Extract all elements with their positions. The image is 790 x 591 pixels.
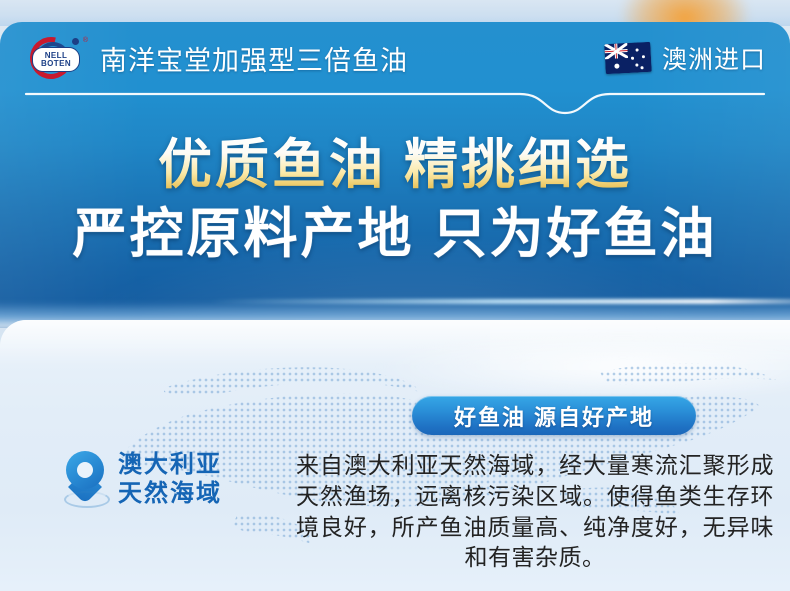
location-text: 澳大利亚 天然海域 bbox=[118, 450, 222, 509]
map-pin-icon bbox=[62, 451, 108, 507]
logo-text-line2: BOTEN bbox=[41, 60, 71, 68]
logo-dot bbox=[72, 38, 79, 45]
flag-star bbox=[631, 57, 634, 60]
australia-flag-icon bbox=[604, 42, 652, 74]
description-paragraph: 来自澳大利亚天然海域，经大量寒流汇聚形成天然渔场，远离核污染区域。使得鱼类生存环… bbox=[296, 450, 774, 573]
location-line-2: 天然海域 bbox=[118, 479, 222, 508]
section-badge: 好鱼油 源自好产地 bbox=[412, 396, 696, 435]
pin-shadow bbox=[64, 491, 110, 508]
nell-boten-logo-icon: NELL BOTEN ® bbox=[26, 36, 88, 80]
import-tag-label: 澳洲进口 bbox=[662, 40, 766, 76]
import-tag: 澳洲进口 bbox=[605, 40, 766, 76]
flag-star bbox=[640, 66, 643, 69]
flag-union-jack bbox=[604, 43, 628, 59]
location-line-1: 澳大利亚 bbox=[118, 450, 222, 479]
hero-headline: 优质鱼油 精挑细选 严控原料产地 只为好鱼油 bbox=[0, 134, 790, 265]
location-block: 澳大利亚 天然海域 bbox=[62, 450, 222, 509]
section-badge-label: 好鱼油 源自好产地 bbox=[454, 400, 654, 432]
headline-line-2: 严控原料产地 只为好鱼油 bbox=[0, 203, 790, 266]
logo-plate: NELL BOTEN bbox=[32, 47, 80, 72]
brand-name: 南洋宝堂加强型三倍鱼油 bbox=[100, 39, 408, 78]
trademark-symbol: ® bbox=[83, 37, 88, 44]
headline-line-1: 优质鱼油 精挑细选 bbox=[0, 134, 790, 197]
brand-block: NELL BOTEN ® 南洋宝堂加强型三倍鱼油 bbox=[26, 36, 408, 80]
header-band: NELL BOTEN ® 南洋宝堂加强型三倍鱼油 澳洲进口 bbox=[0, 22, 790, 94]
promo-banner: NELL BOTEN ® 南洋宝堂加强型三倍鱼油 澳洲进口 bbox=[0, 0, 790, 591]
